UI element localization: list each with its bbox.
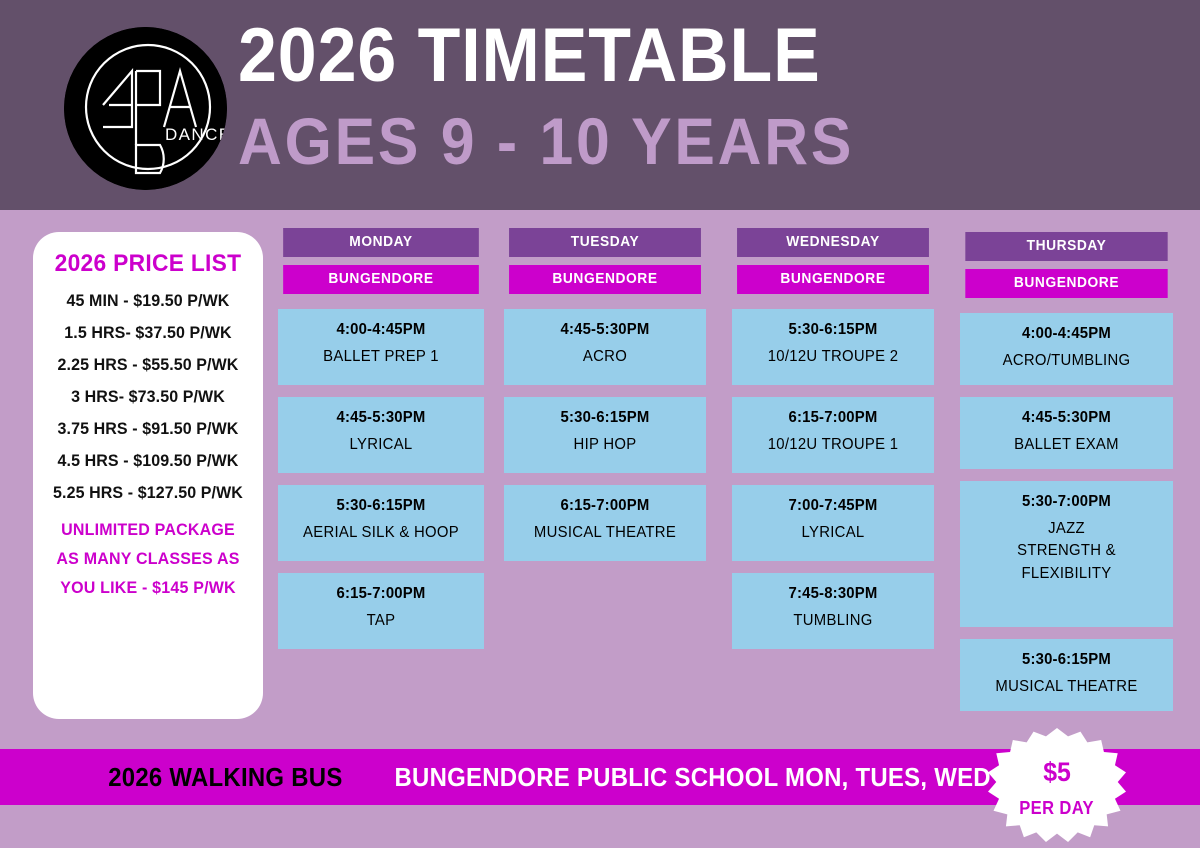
class-card[interactable]: 6:15-7:00PM MUSICAL THEATRE xyxy=(504,485,706,561)
class-time: 5:30-6:15PM xyxy=(968,651,1165,669)
day-header-monday: MONDAY xyxy=(283,228,479,257)
class-name: 10/12U TROUPE 1 xyxy=(740,434,926,456)
class-card[interactable]: 5:30-6:15PM AERIAL SILK & HOOP xyxy=(278,485,484,561)
class-name: MUSICAL THEATRE xyxy=(512,522,698,544)
class-time: 7:45-8:30PM xyxy=(740,585,926,603)
class-time: 4:00-4:45PM xyxy=(968,325,1165,343)
class-card[interactable]: 5:30-6:15PM 10/12U TROUPE 2 xyxy=(732,309,934,385)
day-header-wednesday: WEDNESDAY xyxy=(737,228,929,257)
class-name: ACRO/TUMBLING xyxy=(968,350,1165,372)
class-time: 7:00-7:45PM xyxy=(740,497,926,515)
class-name: JAZZ STRENGTH & FLEXIBILITY xyxy=(968,518,1165,585)
class-card[interactable]: 7:45-8:30PM TUMBLING xyxy=(732,573,934,649)
class-card[interactable]: 6:15-7:00PM TAP xyxy=(278,573,484,649)
class-time: 6:15-7:00PM xyxy=(740,409,926,427)
timetable-grid: MONDAY BUNGENDORE 4:00-4:45PM BALLET PRE… xyxy=(0,0,1200,848)
class-list-monday: 4:00-4:45PM BALLET PREP 1 4:45-5:30PM LY… xyxy=(278,309,484,649)
class-time: 6:15-7:00PM xyxy=(286,585,476,603)
day-header-tuesday: TUESDAY xyxy=(509,228,701,257)
class-name: HIP HOP xyxy=(512,434,698,456)
class-name: BALLET PREP 1 xyxy=(286,346,476,368)
day-header-thursday: THURSDAY xyxy=(965,232,1167,261)
class-time: 5:30-6:15PM xyxy=(740,321,926,339)
day-column-monday: MONDAY BUNGENDORE 4:00-4:45PM BALLET PRE… xyxy=(278,228,484,661)
class-card[interactable]: 4:45-5:30PM BALLET EXAM xyxy=(960,397,1173,469)
location-header-thursday: BUNGENDORE xyxy=(965,269,1167,298)
class-time: 5:30-7:00PM xyxy=(968,493,1165,511)
class-list-thursday: 4:00-4:45PM ACRO/TUMBLING 4:45-5:30PM BA… xyxy=(960,313,1173,711)
class-name: LYRICAL xyxy=(740,522,926,544)
banner-black-text: 2026 WALKING BUS xyxy=(108,762,342,793)
class-time: 5:30-6:15PM xyxy=(512,409,698,427)
class-time: 4:45-5:30PM xyxy=(968,409,1165,427)
class-time: 4:45-5:30PM xyxy=(512,321,698,339)
badge-text-group: $5 PER DAY xyxy=(988,728,1126,848)
class-card[interactable]: 5:30-7:00PM JAZZ STRENGTH & FLEXIBILITY xyxy=(960,481,1173,627)
class-time: 4:45-5:30PM xyxy=(286,409,476,427)
day-column-thursday: THURSDAY BUNGENDORE 4:00-4:45PM ACRO/TUM… xyxy=(960,232,1173,723)
class-card[interactable]: 4:00-4:45PM BALLET PREP 1 xyxy=(278,309,484,385)
badge-per-day-label: PER DAY xyxy=(1020,798,1095,819)
class-card[interactable]: 5:30-6:15PM HIP HOP xyxy=(504,397,706,473)
banner-text-group: 2026 WALKING BUS BUNGENDORE PUBLIC SCHOO… xyxy=(98,762,1101,793)
location-header-wednesday: BUNGENDORE xyxy=(737,265,929,294)
class-name: LYRICAL xyxy=(286,434,476,456)
banner-white-text: BUNGENDORE PUBLIC SCHOOL MON, TUES, WED … xyxy=(394,762,1072,793)
class-list-wednesday: 5:30-6:15PM 10/12U TROUPE 2 6:15-7:00PM … xyxy=(732,309,934,649)
class-card[interactable]: 6:15-7:00PM 10/12U TROUPE 1 xyxy=(732,397,934,473)
class-name: TUMBLING xyxy=(740,610,926,632)
class-name: AERIAL SILK & HOOP xyxy=(286,522,476,544)
class-name: BALLET EXAM xyxy=(968,434,1165,456)
price-per-day-badge: $5 PER DAY xyxy=(988,728,1126,848)
class-card[interactable]: 4:45-5:30PM ACRO xyxy=(504,309,706,385)
class-name: ACRO xyxy=(512,346,698,368)
class-name: MUSICAL THEATRE xyxy=(968,676,1165,698)
class-list-tuesday: 4:45-5:30PM ACRO 5:30-6:15PM HIP HOP 6:1… xyxy=(504,309,706,561)
class-card[interactable]: 7:00-7:45PM LYRICAL xyxy=(732,485,934,561)
class-card[interactable]: 4:00-4:45PM ACRO/TUMBLING xyxy=(960,313,1173,385)
day-column-tuesday: TUESDAY BUNGENDORE 4:45-5:30PM ACRO 5:30… xyxy=(504,228,706,573)
class-name: TAP xyxy=(286,610,476,632)
location-header-monday: BUNGENDORE xyxy=(283,265,479,294)
location-header-tuesday: BUNGENDORE xyxy=(509,265,701,294)
class-card[interactable]: 4:45-5:30PM LYRICAL xyxy=(278,397,484,473)
badge-price: $5 xyxy=(1043,757,1071,788)
class-time: 5:30-6:15PM xyxy=(286,497,476,515)
class-time: 4:00-4:45PM xyxy=(286,321,476,339)
class-card[interactable]: 5:30-6:15PM MUSICAL THEATRE xyxy=(960,639,1173,711)
class-name: 10/12U TROUPE 2 xyxy=(740,346,926,368)
day-column-wednesday: WEDNESDAY BUNGENDORE 5:30-6:15PM 10/12U … xyxy=(732,228,934,661)
class-time: 6:15-7:00PM xyxy=(512,497,698,515)
